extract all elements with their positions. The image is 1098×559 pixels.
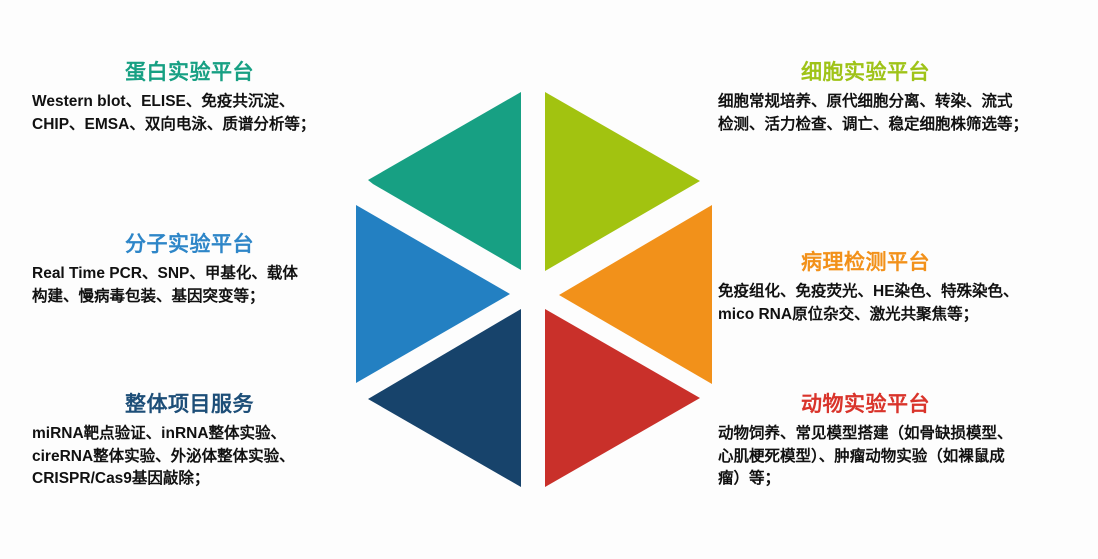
panel-overall-service: 整体项目服务 miRNA靶点验证、inRNA整体实验、 cireRNA整体实验、…	[32, 392, 387, 491]
panel-animal-title: 动物实验平台	[718, 392, 1073, 417]
panel-cell-body: 细胞常规培养、原代细胞分离、转染、流式 检测、活力检查、调亡、稳定细胞株筛选等；	[718, 91, 1073, 136]
infographic-canvas: 蛋白实验平台 Western blot、ELISE、免疫共沉淀、 CHIP、EM…	[0, 0, 1098, 559]
panel-pathology-title: 病理检测平台	[718, 250, 1073, 275]
panel-overall-body: miRNA靶点验证、inRNA整体实验、 cireRNA整体实验、外泌体整体实验…	[32, 423, 387, 490]
panel-pathology-platform: 病理检测平台 免疫组化、免疫荧光、HE染色、特殊染色、 mico RNA原位杂交…	[718, 250, 1073, 326]
hexagon-diagram	[348, 70, 748, 510]
panel-cell-platform: 细胞实验平台 细胞常规培养、原代细胞分离、转染、流式 检测、活力检查、调亡、稳定…	[718, 60, 1073, 136]
panel-animal-platform: 动物实验平台 动物饲养、常见模型搭建（如骨缺损模型、 心肌梗死模型）、肿瘤动物实…	[718, 392, 1073, 491]
panel-molecular-title: 分子实验平台	[32, 232, 387, 257]
panel-overall-title: 整体项目服务	[32, 392, 387, 417]
panel-animal-body: 动物饲养、常见模型搭建（如骨缺损模型、 心肌梗死模型）、肿瘤动物实验（如裸鼠成 …	[718, 423, 1073, 490]
panel-cell-title: 细胞实验平台	[718, 60, 1073, 85]
panel-protein-title: 蛋白实验平台	[32, 60, 387, 85]
panel-protein-body: Western blot、ELISE、免疫共沉淀、 CHIP、EMSA、双向电泳…	[32, 91, 387, 136]
panel-protein-platform: 蛋白实验平台 Western blot、ELISE、免疫共沉淀、 CHIP、EM…	[32, 60, 387, 136]
panel-molecular-body: Real Time PCR、SNP、甲基化、载体 构建、慢病毒包装、基因突变等；	[32, 263, 387, 308]
panel-pathology-body: 免疫组化、免疫荧光、HE染色、特殊染色、 mico RNA原位杂交、激光共聚焦等…	[718, 281, 1073, 326]
hexagon-svg	[348, 70, 748, 510]
panel-molecular-platform: 分子实验平台 Real Time PCR、SNP、甲基化、载体 构建、慢病毒包装…	[32, 232, 387, 308]
